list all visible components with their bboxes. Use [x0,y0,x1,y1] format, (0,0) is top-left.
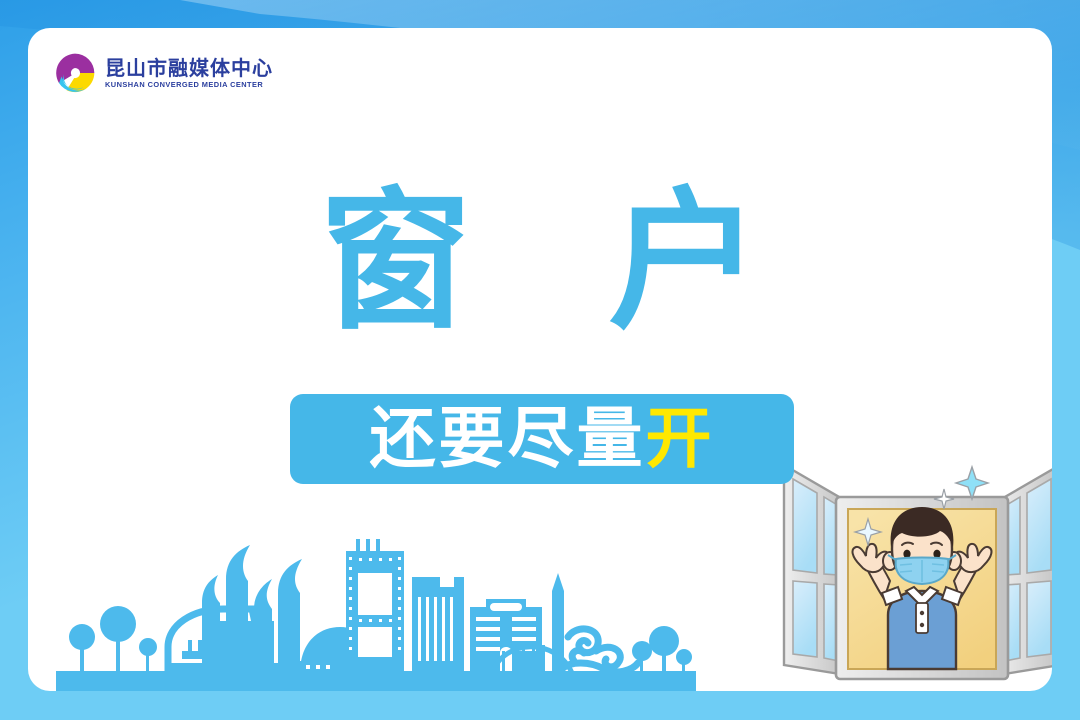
subtitle-banner: 还要尽量开 [290,394,794,484]
logo-name-cn: 昆山市融媒体中心 [105,58,273,78]
subtitle-text-white: 还要尽量 [370,400,646,477]
page-title: 窗 户 [0,186,1080,338]
subtitle-text: 还要尽量开 [370,406,715,472]
logo-text-block: 昆山市融媒体中心 KUNSHAN CONVERGED MEDIA CENTER [105,58,273,88]
logo: 昆山市融媒体中心 KUNSHAN CONVERGED MEDIA CENTER [54,52,273,94]
boy-opening-window-illustration [764,453,1052,691]
white-content-card [28,28,1052,691]
kunshan-media-logo-icon [54,52,96,94]
city-skyline-illustration [56,511,696,691]
poster-root: 昆山市融媒体中心 KUNSHAN CONVERGED MEDIA CENTER … [0,0,1080,720]
logo-name-en: KUNSHAN CONVERGED MEDIA CENTER [105,81,273,88]
subtitle-text-highlight: 开 [646,400,715,477]
